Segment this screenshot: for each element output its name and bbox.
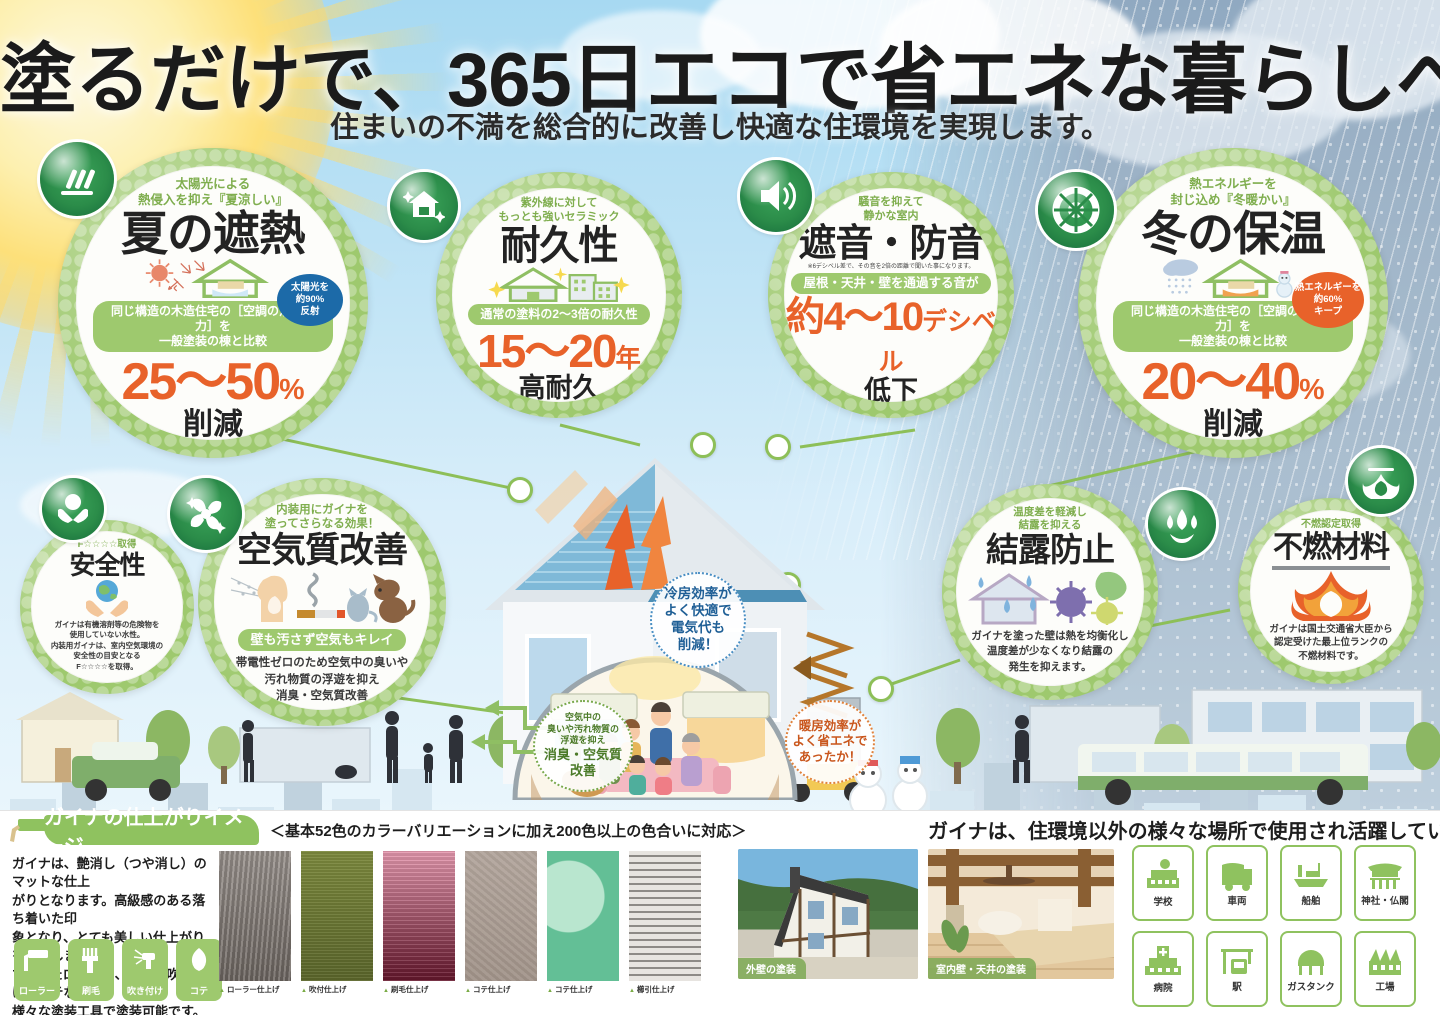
swatch-5: 櫛引仕上げ bbox=[629, 851, 701, 981]
feature-title: 夏の遮熱 bbox=[121, 210, 305, 257]
usecase-hospital: 病院 bbox=[1132, 931, 1194, 1007]
air-quality-illustration bbox=[227, 570, 417, 626]
heat-retention-icon bbox=[1038, 172, 1114, 248]
feature-title: 安全性 bbox=[69, 552, 144, 578]
callout-reflect: 太陽光を 約90% 反射 bbox=[277, 274, 343, 326]
feature-title: 遮音・防音 bbox=[798, 225, 983, 263]
feature-title: 結露防止 bbox=[986, 533, 1114, 566]
speaker-icon bbox=[740, 160, 812, 232]
fan-sparkle-icon bbox=[170, 478, 242, 550]
tool-trowel: コテ bbox=[176, 939, 222, 1001]
connector-node bbox=[868, 676, 894, 702]
condensation-illustration bbox=[967, 569, 1133, 625]
photo-caption: 外壁の塗装 bbox=[738, 958, 806, 979]
interior-ceiling-photo: 室内壁・天井の塗装 bbox=[928, 849, 1114, 979]
usecase-ship: 船舶 bbox=[1280, 845, 1342, 921]
callout-keep-heat: 熱エネルギーを 約60% キープ bbox=[1292, 272, 1364, 328]
photo-caption: 室内壁・天井の塗装 bbox=[928, 958, 1036, 979]
footer-panel: ガイナの仕上がりイメージ ＜基本52色のカラーバリエーションに加え200色以上の… bbox=[0, 810, 1440, 1015]
feature-title: 空気質改善 bbox=[237, 533, 407, 568]
earth-in-hands-icon bbox=[42, 478, 104, 540]
usecase-factory: 工場 bbox=[1354, 931, 1416, 1007]
usecase-grid: 学校 車両 船舶 神社・仏閣 病院 駅 bbox=[1132, 845, 1428, 1015]
bubble-cooling: 冷房効率が よく快適で 電気代も 削減！ bbox=[650, 572, 746, 668]
tool-brush: 刷毛 bbox=[68, 939, 114, 1001]
feature-circle-condensation[interactable]: 温度差を軽減し 結露を抑える 結露防止 ガイナを塗った壁は熱を均衡化し 温度差が… bbox=[942, 484, 1158, 700]
sun-reflect-icon bbox=[40, 142, 114, 216]
water-drops-icon bbox=[1148, 490, 1216, 558]
bubble-air-quality: 空気中の 臭いや汚れ物質の 浮遊を抑え 消臭・空気質 改善 bbox=[533, 700, 633, 792]
feature-title: 耐久性 bbox=[501, 226, 618, 266]
divider bbox=[1272, 566, 1390, 570]
feature-title: 冬の保温 bbox=[1141, 210, 1325, 257]
usecase-vehicle: 車両 bbox=[1206, 845, 1268, 921]
feature-circle-durability[interactable]: 紫外線に対して もっとも強いセラミック 耐久性 通常の塗料の2〜3倍の耐久性 1… bbox=[436, 172, 682, 418]
flame-icon bbox=[1348, 448, 1414, 514]
feature-circle-noncombustible[interactable]: 不燃認定取得 不燃材料 ガイナは国土交通省大臣から 認定受けた最上位ランクの 不… bbox=[1238, 498, 1424, 684]
usecase-shrine: 神社・仏閣 bbox=[1354, 845, 1416, 921]
usecase-station: 駅 bbox=[1206, 931, 1268, 1007]
swatch-2: 刷毛仕上げ bbox=[383, 851, 455, 981]
exterior-wall-photo: 外壁の塗装 bbox=[738, 849, 918, 979]
feature-circle-winter-insulation[interactable]: 熱エネルギーを 封じ込め『冬暖かい』 冬の保温 熱エネルギーを 約60% bbox=[1078, 148, 1388, 458]
swatch-0: ローラー仕上げ bbox=[219, 851, 291, 981]
usecases-title: ガイナは、住環境以外の様々な場所で使用され活躍しています bbox=[928, 815, 1440, 844]
swatch-4: コテ仕上げ bbox=[547, 851, 619, 981]
tool-spray: 吹き付け bbox=[122, 939, 168, 1001]
swatch-1: 吹付仕上げ bbox=[301, 851, 373, 981]
usecase-school: 学校 bbox=[1132, 845, 1194, 921]
usecase-gas-tank: ガスタンク bbox=[1280, 931, 1342, 1007]
earth-in-hands-illustration bbox=[80, 578, 134, 618]
feature-circle-safety[interactable]: F☆☆☆☆取得 安全性 ガイナは有機溶剤等の危険物を 使用していない水性。 内装… bbox=[20, 520, 194, 694]
flame-illustration bbox=[1288, 571, 1374, 621]
feature-title: 不燃材料 bbox=[1273, 533, 1389, 563]
swatch-3: コテ仕上げ bbox=[465, 851, 537, 981]
finish-image-ribbon: ガイナの仕上がりイメージ bbox=[44, 815, 259, 845]
durable-buildings-illustration bbox=[469, 266, 649, 303]
color-variation-note: ＜基本52色のカラーバリエーションに加え200色以上の色合いに対応＞ bbox=[270, 820, 746, 841]
sparkle-house-icon bbox=[390, 172, 458, 240]
tool-list: ローラー 刷毛 吹き付け コテ bbox=[14, 939, 222, 1001]
poster-root: 塗るだけで、365日エコで省エネな暮らしへ。 住まいの不満を総合的に改善し快適な… bbox=[0, 0, 1440, 1015]
bubble-heating: 暖房効率が よく省エネで あったか！ bbox=[785, 700, 875, 784]
tool-roller: ローラー bbox=[14, 939, 60, 1001]
